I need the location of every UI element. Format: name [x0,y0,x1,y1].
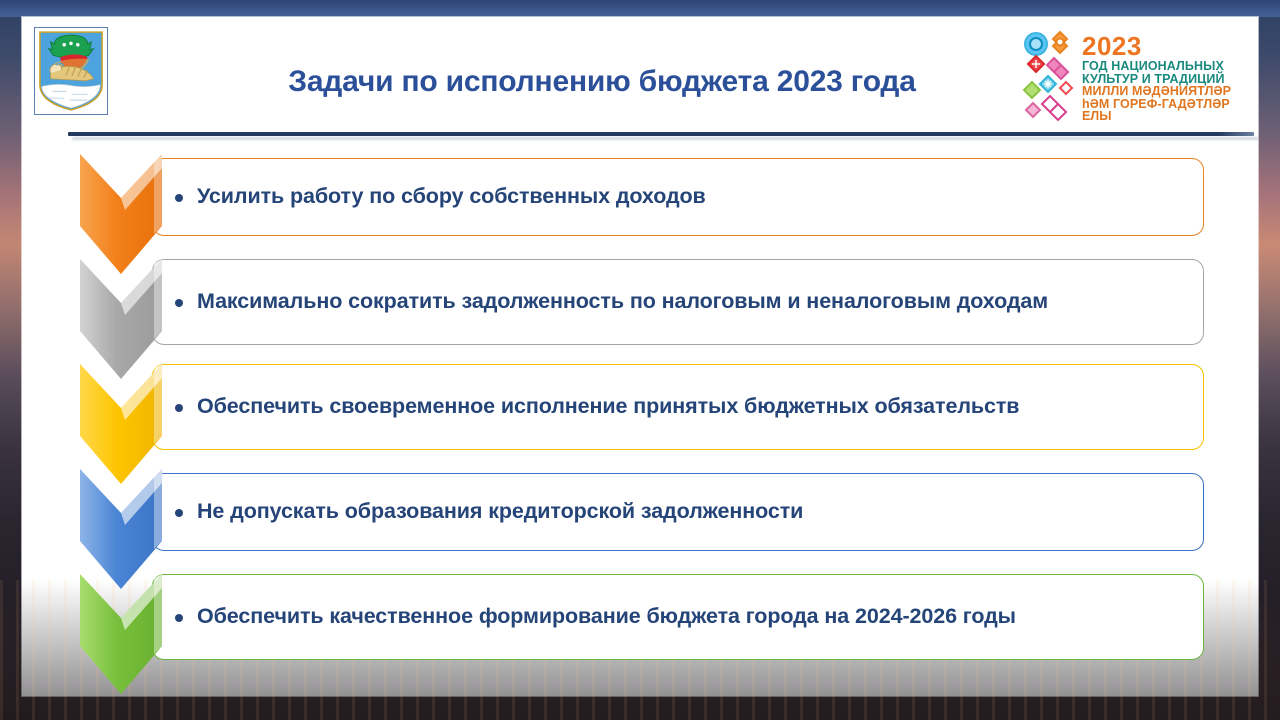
bullet-icon [175,404,183,412]
task-text: Усилить работу по сбору собственных дохо… [197,183,706,211]
task-row[interactable]: Обеспечить своевременное исполнение прин… [22,358,1258,463]
bullet-icon [175,614,183,622]
chevron-down-icon [76,572,166,698]
task-text: Максимально сократить задолженность по н… [197,288,1048,316]
page-title: Задачи по исполнению бюджета 2023 года [172,65,1032,98]
task-card: Обеспечить своевременное исполнение прин… [152,364,1204,450]
slide-background: Задачи по исполнению бюджета 2023 года [0,0,1280,720]
kazan-coat-of-arms-icon [34,27,108,115]
year-logo-line-3: МИЛЛИ МӘДӘНИЯТЛӘР [1082,85,1240,98]
year-logo-line-4: һӘМ ГОРЕФ-ГАДӘТЛӘР ЕЛЫ [1082,98,1240,123]
task-text: Обеспечить своевременное исполнение прин… [197,393,1019,421]
bullet-icon [175,509,183,517]
top-accent-strip [0,0,1280,17]
task-text: Обеспечить качественное формирование бюд… [197,603,1016,631]
task-card: Усилить работу по сбору собственных дохо… [152,158,1204,236]
task-row[interactable]: Не допускать образования кредиторской за… [22,463,1258,568]
task-card: Обеспечить качественное формирование бюд… [152,574,1204,660]
task-row[interactable]: Обеспечить качественное формирование бюд… [22,568,1258,673]
slide-content-card: Задачи по исполнению бюджета 2023 года [22,17,1258,696]
title-rule-shadow [72,137,1258,140]
year-of-national-cultures-logo: 2023 ГОД НАЦИОНАЛЬНЫХ КУЛЬТУР И ТРАДИЦИЙ… [1020,25,1240,131]
bullet-icon [175,299,183,307]
task-list: Усилить работу по сбору собственных дохо… [22,148,1258,673]
year-logo-line-1: ГОД НАЦИОНАЛЬНЫХ [1082,60,1240,73]
tatar-ornament-icon [1020,28,1078,128]
year-logo-year: 2023 [1082,33,1240,59]
task-text: Не допускать образования кредиторской за… [197,498,803,526]
task-card: Не допускать образования кредиторской за… [152,473,1204,551]
task-row[interactable]: Усилить работу по сбору собственных дохо… [22,148,1258,253]
bullet-icon [175,194,183,202]
task-row[interactable]: Максимально сократить задолженность по н… [22,253,1258,358]
task-card: Максимально сократить задолженность по н… [152,259,1204,345]
title-divider [68,132,1254,136]
